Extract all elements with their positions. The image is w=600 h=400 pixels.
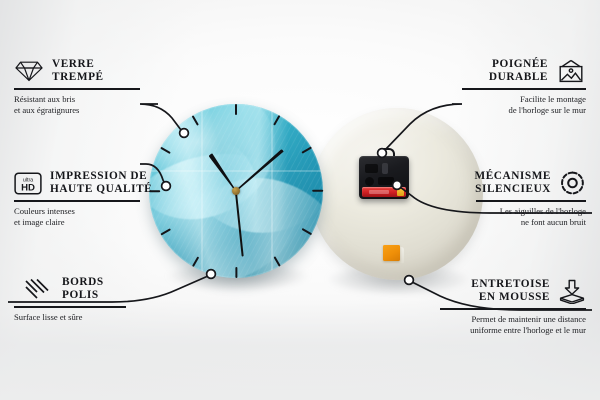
foam-spacer-icon: [558, 279, 586, 304]
desc-line-2: ne font aucun bruit: [476, 217, 586, 228]
clock-front-view: [149, 104, 323, 278]
title-line-1: BORDS: [62, 276, 104, 289]
title-line-1: IMPRESSION DE: [50, 170, 152, 183]
clock-mechanism: [359, 153, 409, 199]
feature-title: MÉCANISME SILENCIEUX: [475, 170, 552, 196]
desc-line-1: Permet de maintenir une distance: [440, 314, 586, 325]
desc-line-1: Couleurs intenses: [14, 206, 140, 217]
diamond-icon: [14, 59, 44, 83]
desc-line-2: de l'horloge sur le mur: [462, 105, 586, 116]
feature-divider: [462, 88, 586, 90]
feature-divider: [440, 308, 586, 310]
hand-center-cap: [232, 187, 240, 195]
feature-title: BORDS POLIS: [62, 276, 104, 302]
feature-description: Facilite le montage de l'horloge sur le …: [462, 94, 586, 116]
desc-line-1: Les aiguilles de l'horloge: [476, 206, 586, 217]
feature-bords-polis: BORDS POLIS Surface lisse et sûre: [14, 276, 126, 323]
feature-description: Surface lisse et sûre: [14, 312, 126, 323]
desc-line-1: Surface lisse et sûre: [14, 312, 126, 323]
desc-line-2: uniforme entre l'horloge et le mur: [440, 325, 586, 336]
clock-back-view: [311, 108, 483, 280]
feature-mecanisme-silencieux: MÉCANISME SILENCIEUX Les aiguilles de l'…: [476, 170, 586, 228]
feature-entretoise-en-mousse: ENTRETOISE EN MOUSSE Permet de maintenir…: [440, 278, 586, 336]
desc-line-1: Résistant aux bris: [14, 94, 140, 105]
svg-text:HD: HD: [21, 182, 35, 193]
feature-header: POIGNÉE DURABLE: [462, 58, 586, 84]
polished-edges-icon: [24, 277, 50, 301]
feature-header: ENTRETOISE EN MOUSSE: [440, 278, 586, 304]
feature-impression-haute-qualite: ultra HD IMPRESSION DE HAUTE QUALITÉ Cou…: [14, 170, 140, 228]
desc-line-2: et image claire: [14, 217, 140, 228]
feature-title: ENTRETOISE EN MOUSSE: [471, 278, 550, 304]
gear-icon: [559, 170, 586, 196]
feature-header: ultra HD IMPRESSION DE HAUTE QUALITÉ: [14, 170, 140, 196]
battery-label: [369, 190, 389, 194]
battery: [362, 187, 406, 197]
title-line-1: VERRE: [52, 58, 104, 71]
feature-header: VERRE TREMPÉ: [14, 58, 140, 84]
feature-description: Permet de maintenir une distance uniform…: [440, 314, 586, 336]
feature-divider: [14, 88, 140, 90]
mechanism-detail: [378, 177, 394, 185]
wall-hanger-icon: [556, 59, 586, 84]
feature-description: Les aiguilles de l'horloge ne font aucun…: [476, 206, 586, 228]
ultra-hd-icon: ultra HD: [14, 171, 42, 196]
feature-divider: [14, 306, 126, 308]
feature-description: Couleurs intenses et image claire: [14, 206, 140, 228]
desc-line-1: Facilite le montage: [462, 94, 586, 105]
title-line-1: ENTRETOISE: [471, 278, 550, 291]
title-line-1: POIGNÉE: [489, 58, 548, 71]
feature-title: VERRE TREMPÉ: [52, 58, 104, 84]
infographic-canvas: VERRE TREMPÉ Résistant aux bris et aux é…: [0, 0, 600, 400]
title-line-1: MÉCANISME: [475, 170, 552, 183]
title-line-2: EN MOUSSE: [471, 291, 550, 304]
feature-header: BORDS POLIS: [14, 276, 126, 302]
feature-title: POIGNÉE DURABLE: [489, 58, 548, 84]
battery-terminal: [397, 189, 404, 196]
desc-line-2: et aux égratignures: [14, 105, 140, 116]
feature-description: Résistant aux bris et aux égratignures: [14, 94, 140, 116]
feature-divider: [14, 200, 140, 202]
title-line-2: DURABLE: [489, 71, 548, 84]
hour-marker: [235, 267, 237, 278]
title-line-2: POLIS: [62, 289, 104, 302]
title-line-2: TREMPÉ: [52, 71, 104, 84]
foam-spacer: [383, 245, 404, 264]
mechanism-detail: [382, 163, 388, 174]
foam-spacer-top: [383, 245, 400, 261]
mechanism-body: [359, 156, 409, 199]
mechanism-detail: [365, 177, 374, 186]
feature-poignee-durable: POIGNÉE DURABLE Facilite le montage de l…: [462, 58, 586, 116]
mechanism-detail: [365, 164, 378, 173]
title-line-2: SILENCIEUX: [475, 183, 552, 196]
feature-verre-trempe: VERRE TREMPÉ Résistant aux bris et aux é…: [14, 58, 140, 116]
title-line-2: HAUTE QUALITÉ: [50, 183, 152, 196]
feature-header: MÉCANISME SILENCIEUX: [476, 170, 586, 196]
feature-title: IMPRESSION DE HAUTE QUALITÉ: [50, 170, 152, 196]
feature-divider: [476, 200, 586, 202]
